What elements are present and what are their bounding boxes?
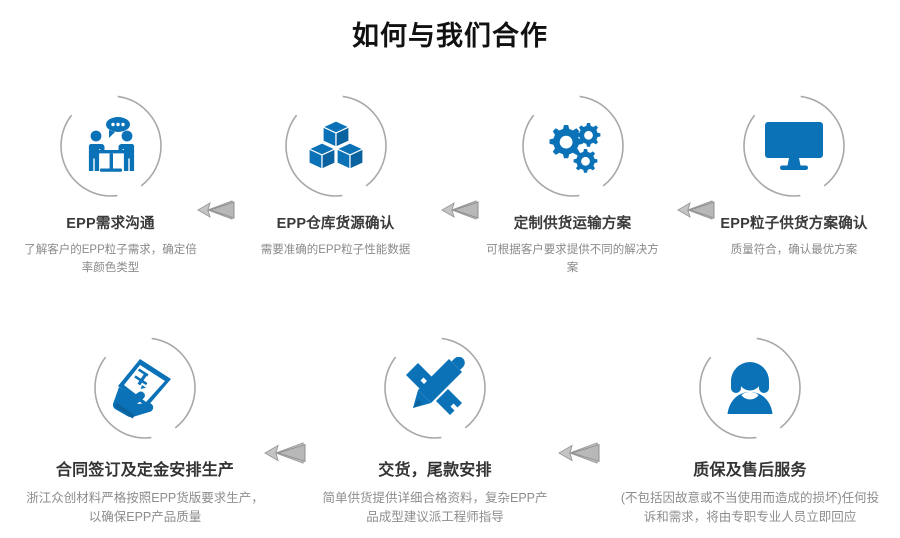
process-arrow-5 [557, 440, 601, 471]
step-icon-container [519, 92, 627, 200]
step-description: 了解客户的EPP粒子需求，确定倍率颜色类型 [21, 242, 201, 278]
page-title: 如何与我们合作 [0, 14, 900, 53]
pencil-ruler-design-icon [404, 357, 466, 419]
process-step-2[interactable]: EPP仓库货源确认 需要准确的EPP粒子性能数据 [228, 92, 443, 260]
step-title: EPP需求沟通 [3, 212, 218, 233]
process-step-7[interactable]: 质保及售后服务 (不包括因故意或不当使用而造成的损坏)任何投诉和需求，将由专职专… [600, 334, 900, 528]
step-title: 合同签订及定金安排生产 [0, 456, 290, 480]
step-title: 质保及售后服务 [600, 456, 900, 480]
process-step-5[interactable]: 合同签订及定金安排生产 浙江众创材料严格按照EPP货版要求生产，以确保EPP产品… [0, 334, 290, 528]
gears-icon [542, 117, 604, 175]
step-title: 定制供货运输方案 [465, 212, 680, 233]
step-description: 可根据客户要求提供不同的解决方案 [485, 242, 660, 278]
step-icon-container [282, 92, 390, 200]
stacked-boxes-icon [305, 117, 367, 175]
step-icon-container [91, 334, 199, 442]
step-icon-container [696, 334, 804, 442]
headset-support-icon [719, 359, 781, 417]
step-title: EPP仓库货源确认 [228, 212, 443, 233]
process-step-4[interactable]: EPP粒子供货方案确认 质量符合，确认最优方案 [688, 92, 900, 260]
cooperation-process-page: 如何与我们合作 [0, 0, 900, 538]
step-description: (不包括因故意或不当使用而造成的损坏)任何投诉和需求，将由专职专业人员立即回应 [615, 489, 885, 528]
step-icon-container [57, 92, 165, 200]
step-title: EPP粒子供货方案确认 [688, 212, 900, 233]
process-step-1[interactable]: EPP需求沟通 了解客户的EPP粒子需求，确定倍率颜色类型 [3, 92, 218, 278]
step-description: 简单供货提供详细合格资料，复杂EPP产品成型建议派工程师指导 [317, 489, 553, 528]
step-icon-container [381, 334, 489, 442]
process-step-6[interactable]: 交货，尾款安排 简单供货提供详细合格资料，复杂EPP产品成型建议派工程师指导 [290, 334, 580, 528]
meeting-discussion-icon [80, 117, 142, 175]
process-step-3[interactable]: 定制供货运输方案 可根据客户要求提供不同的解决方案 [465, 92, 680, 278]
step-icon-container [740, 92, 848, 200]
step-description: 质量符合，确认最优方案 [699, 242, 889, 260]
monitor-check-icon [763, 118, 825, 174]
hand-signing-document-icon [113, 357, 177, 419]
step-description: 需要准确的EPP粒子性能数据 [236, 242, 436, 260]
step-description: 浙江众创材料严格按照EPP货版要求生产，以确保EPP产品质量 [22, 489, 268, 528]
double-chevron-arrow-icon [557, 440, 601, 466]
step-title: 交货，尾款安排 [290, 456, 580, 480]
